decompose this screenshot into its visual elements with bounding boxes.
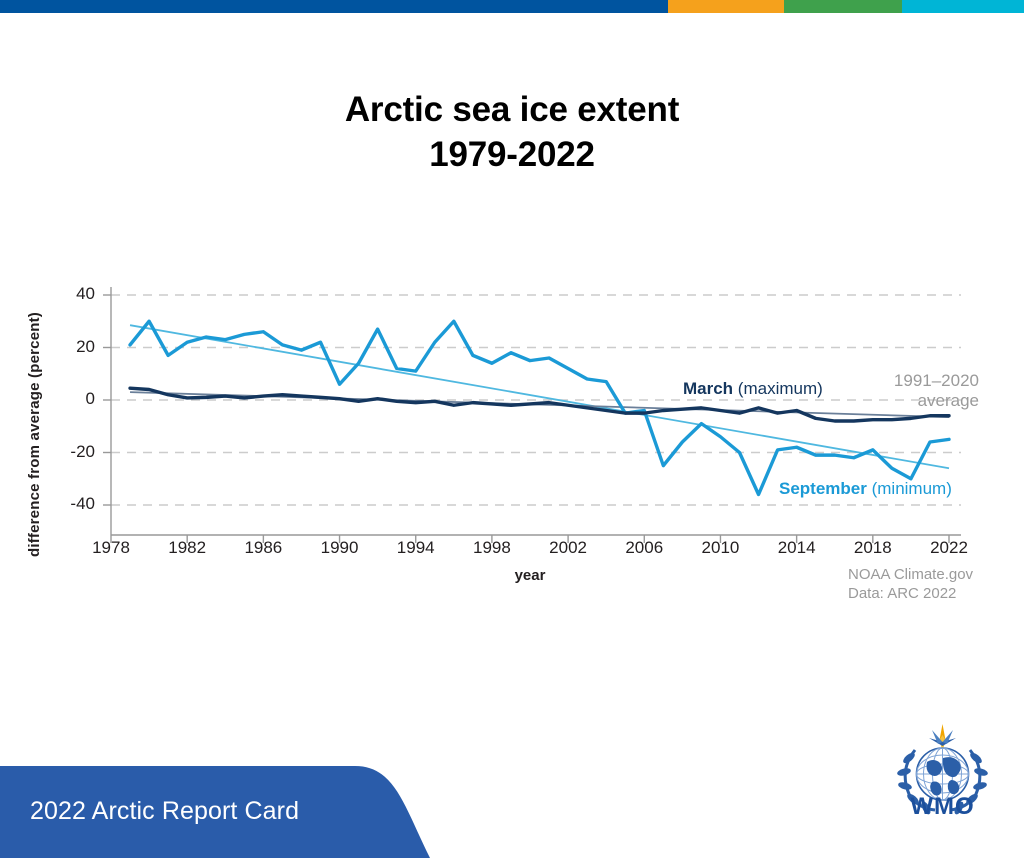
dataline-march xyxy=(130,388,949,421)
wmo-logo-label: WMO xyxy=(885,793,1000,821)
top-bar-segment-cyan xyxy=(902,0,1024,13)
legend-september: September (minimum) xyxy=(779,479,952,499)
credit-line-2: Data: ARC 2022 xyxy=(848,585,973,604)
x-tick-label-2014: 2014 xyxy=(757,538,837,558)
legend-average-line-1: 1991–2020 xyxy=(889,371,979,391)
x-tick-label-1986: 1986 xyxy=(223,538,303,558)
top-color-bar xyxy=(0,0,1024,13)
y-tick-label-0: 0 xyxy=(55,389,95,409)
source-credit: NOAA Climate.gov Data: ARC 2022 xyxy=(848,566,973,604)
legend-march: March (maximum) xyxy=(683,379,823,399)
legend-march-bold: March xyxy=(683,379,733,398)
x-tick-label-1998: 1998 xyxy=(452,538,532,558)
x-tick-label-2002: 2002 xyxy=(528,538,608,558)
y-tick-label-20: 20 xyxy=(55,337,95,357)
x-tick-label-1990: 1990 xyxy=(300,538,380,558)
report-card-banner: 2022 Arctic Report Card xyxy=(0,766,430,858)
x-tick-label-2018: 2018 xyxy=(833,538,913,558)
legend-average-line-2: average xyxy=(889,391,979,411)
gridlines xyxy=(111,295,961,505)
banner-label: 2022 Arctic Report Card xyxy=(30,797,299,826)
x-tick-label-2006: 2006 xyxy=(604,538,684,558)
y-tick-label--20: -20 xyxy=(55,442,95,462)
legend-september-bold: September xyxy=(779,479,867,498)
x-tick-label-2022: 2022 xyxy=(909,538,989,558)
top-bar-segment-blue xyxy=(0,0,668,13)
legend-average: 1991–2020 average xyxy=(889,371,979,411)
x-tick-label-2010: 2010 xyxy=(680,538,760,558)
legend-september-rest: (minimum) xyxy=(867,479,952,498)
x-tick-label-1982: 1982 xyxy=(147,538,227,558)
legend-march-rest: (maximum) xyxy=(733,379,823,398)
credit-line-1: NOAA Climate.gov xyxy=(848,566,973,585)
x-tick-label-1994: 1994 xyxy=(376,538,456,558)
title-line-2: 1979-2022 xyxy=(0,133,1024,178)
y-tick-label--40: -40 xyxy=(55,494,95,514)
page-title: Arctic sea ice extent 1979-2022 xyxy=(0,88,1024,178)
top-bar-segment-orange xyxy=(668,0,784,13)
y-tick-label-40: 40 xyxy=(55,284,95,304)
top-bar-segment-green xyxy=(784,0,902,13)
x-tick-label-1978: 1978 xyxy=(71,538,151,558)
title-line-1: Arctic sea ice extent xyxy=(0,88,1024,133)
